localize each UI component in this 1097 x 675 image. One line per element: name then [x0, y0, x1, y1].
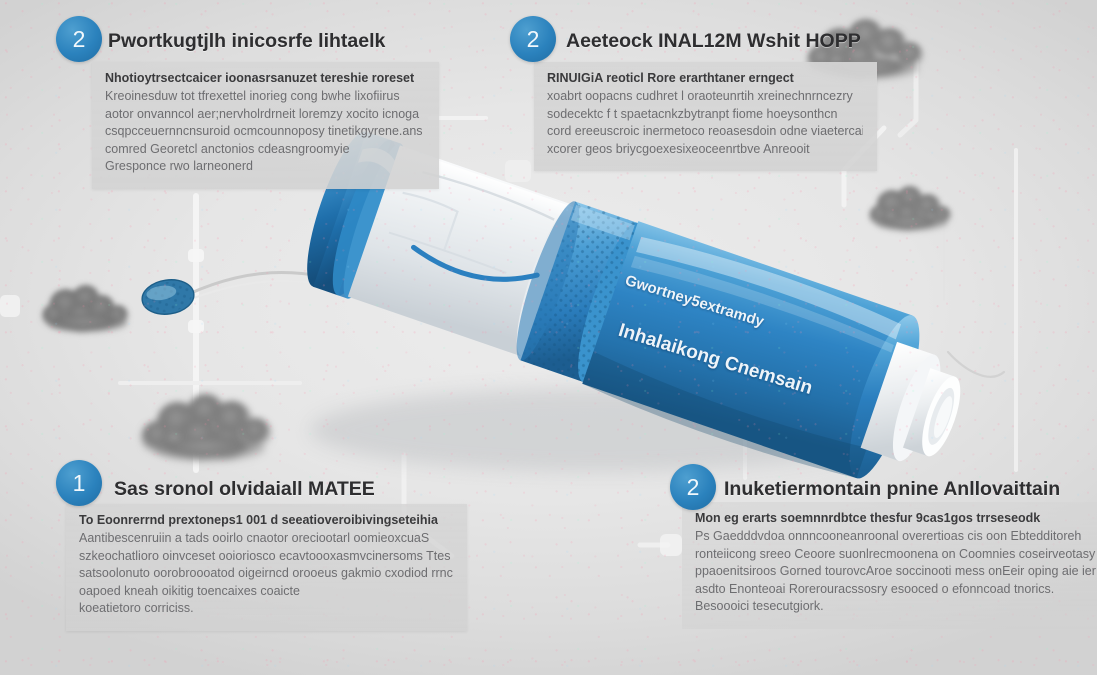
callout-line: xcorer geos briycgoexesixeoceenrtbve Anr…: [547, 141, 863, 159]
callout-line: sodecektc f t spaetacnkzbytranpt fiome h…: [547, 106, 863, 124]
callout-line: koeatietoro corriciss.: [79, 600, 453, 618]
callout-body: Mon eg erarts soemnnrdbtce thesfur 9cas1…: [682, 502, 1097, 629]
callout-line: xoabrt oopacns cudhret l oraoteunrtih xr…: [547, 88, 863, 106]
smoke-cloud-icon: [26, 272, 156, 352]
step-badge[interactable]: 2: [670, 464, 716, 510]
callout-header: 2 Aeeteock INAL12M Wshit HOPP: [506, 12, 886, 62]
step-badge[interactable]: 2: [56, 16, 102, 62]
callout-header: 1 Sas sronol olvidaiall MATEE: [52, 458, 452, 504]
callout-lead: To Eoonrerrnd prextoneps1 001 d seeatiov…: [79, 513, 453, 527]
device-label-line-2: Inhalaikong Cnemsain: [616, 320, 815, 400]
callout-bottom-right[interactable]: 2 Inuketiermontain pnine Anllovaittain M…: [668, 462, 1088, 629]
callout-line: ronteiicong sreeo Ceoore suonlrecmoonena…: [695, 546, 1097, 564]
callout-line: Aantibescenruiin a tads ooirlo cnaotor o…: [79, 530, 453, 548]
callout-title: Aeeteock INAL12M Wshit HOPP: [566, 30, 861, 53]
smoke-cloud-icon: [852, 172, 972, 250]
callout-line: Kreoinesduw tot tfrexettel inorieg cong …: [105, 88, 425, 106]
callout-line: Gresponce rwo larneonerd: [105, 158, 425, 176]
callout-title: Sas sronol olvidaiall MATEE: [114, 478, 375, 501]
callout-line: Besoooici tesecutgiork.: [695, 598, 1097, 616]
callout-line: Ps Gaedddvdoa onnncooneanroonal overerti…: [695, 528, 1097, 546]
callout-top-right[interactable]: 2 Aeeteock INAL12M Wshit HOPP RINUIGiA r…: [506, 12, 886, 171]
callout-header: 2 Pwortkugtjlh inicosrfe lihtaelk: [52, 12, 432, 62]
callout-line: oapoed kneah oikitig toencaixes coaicte: [79, 583, 453, 601]
callout-title: Pwortkugtjlh inicosrfe lihtaelk: [108, 30, 385, 53]
callout-line: asdto Enonteoai Rorerouracssosry esooced…: [695, 581, 1097, 599]
callout-line: satsoolonuto oorobroooatod oigeirncd oro…: [79, 565, 453, 583]
device-label-line-1: Gwortney5extramdy: [623, 272, 766, 330]
callout-title: Inuketiermontain pnine Anllovaittain: [724, 478, 1060, 501]
callout-line: comred Georetcl anctonios cdeasngroomyie: [105, 141, 425, 159]
step-badge[interactable]: 1: [56, 460, 102, 506]
infographic-canvas: Gwortney5extramdy Inhalaikong Cnemsain 2…: [0, 0, 1097, 675]
callout-header: 2 Inuketiermontain pnine Anllovaittain: [668, 462, 1088, 502]
callout-line: cord ereeuscroic inermetoco reoasesdoin …: [547, 123, 863, 141]
callout-lead: RINUIGiA reoticl Rore erarthtaner erngec…: [547, 71, 863, 85]
callout-body: Nhotioytrsectcaicer ioonasrsanuzet teres…: [92, 62, 439, 189]
callout-lead: Nhotioytrsectcaicer ioonasrsanuzet teres…: [105, 71, 425, 85]
callout-body: RINUIGiA reoticl Rore erarthtaner erngec…: [534, 62, 877, 171]
callout-lead: Mon eg erarts soemnnrdbtce thesfur 9cas1…: [695, 511, 1097, 525]
callout-body: To Eoonrerrnd prextoneps1 001 d seeatiov…: [66, 504, 467, 631]
callout-top-left[interactable]: 2 Pwortkugtjlh inicosrfe lihtaelk Nhotio…: [52, 12, 432, 189]
step-badge[interactable]: 2: [510, 16, 556, 62]
callout-line: szkeochatlioro oinvceset ooioriosco ecav…: [79, 548, 453, 566]
callout-bottom-left[interactable]: 1 Sas sronol olvidaiall MATEE To Eoonrer…: [52, 458, 452, 631]
callout-line: csqpcceuernncnsuroid ocmcounnoposy tinet…: [105, 123, 425, 141]
callout-line: ppaoenitsiroos Gorned tourovcAroe soccin…: [695, 563, 1097, 581]
callout-line: aotor onvanncol aer;nervholrdrneit lorem…: [105, 106, 425, 124]
